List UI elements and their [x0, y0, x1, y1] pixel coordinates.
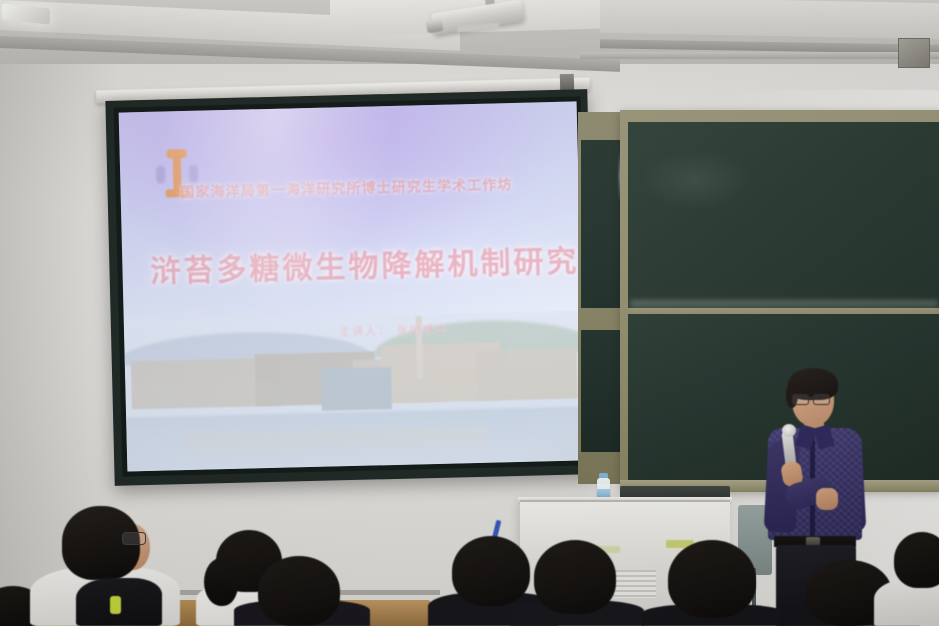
glasses-icon: [792, 394, 830, 403]
projection-screen[interactable]: 国家海洋局第一海洋研究所博士研究生学术工作坊 浒苔多糖微生物降解机制研究 主讲人…: [105, 89, 596, 486]
audience-member-head: [894, 532, 939, 588]
chalkboard-chalk-dust: [630, 300, 938, 314]
wall-mounted-speaker: [898, 38, 930, 68]
audience-member-head: [452, 536, 530, 606]
campus-building: [477, 349, 578, 401]
emblem-wing-left: [156, 166, 165, 184]
slide-surface: 国家海洋局第一海洋研究所博士研究生学术工作坊 浒苔多糖微生物降解机制研究 主讲人…: [119, 101, 586, 471]
ceiling-rail: [580, 52, 939, 59]
chalkboard-smudge: [640, 150, 750, 210]
lectern-vent: [614, 570, 656, 598]
slide-subtitle: 国家海洋局第一海洋研究所博士研究生学术工作坊: [180, 173, 510, 201]
glasses-lens-left: [792, 394, 809, 405]
glasses-icon: [122, 532, 146, 545]
side-chalkboard-panel: [581, 330, 621, 452]
glasses-lens-right: [813, 394, 830, 405]
lecture-hall-scene: 国家海洋局第一海洋研究所博士研究生学术工作坊 浒苔多糖微生物降解机制研究 主讲人…: [0, 0, 939, 626]
backpack-clip-icon: [110, 596, 121, 614]
ceiling-panel: [600, 0, 939, 39]
side-chalkboard-panel: [581, 140, 621, 308]
projector-lens-icon: [426, 18, 444, 33]
audience-member-head: [668, 540, 756, 618]
audience-member-head: [534, 540, 616, 614]
campus-building: [321, 367, 392, 411]
slide-title: 浒苔多糖微生物降解机制研究: [150, 237, 551, 291]
presenter-gesturing-hand: [816, 488, 838, 510]
audience-member-head: [258, 556, 340, 626]
microphone-head-icon: [782, 424, 796, 437]
